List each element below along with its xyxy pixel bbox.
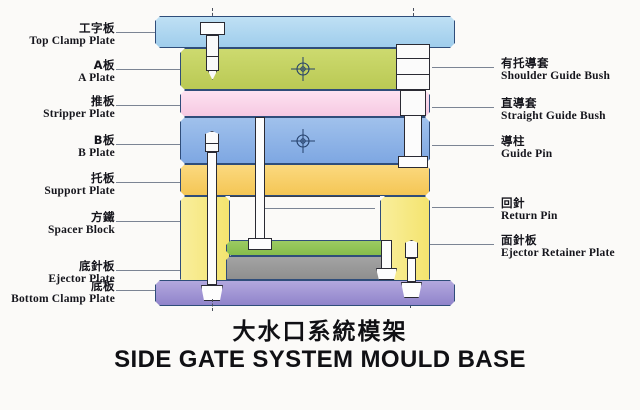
label-stripper-plate-en: Stripper Plate — [43, 108, 115, 121]
label-top-clamp-plate-cn: 工字板 — [29, 22, 115, 35]
part-retainer-screw-head — [376, 268, 397, 280]
label-ejector-retainer-plate: 面針板 Ejector Retainer Plate — [501, 234, 615, 260]
gapline-spacer-gap — [230, 196, 380, 197]
label-shoulder-guide-bush: 有托導套 Shoulder Guide Bush — [501, 57, 610, 83]
leader-guide-pin — [432, 145, 494, 146]
diagram-title: 大水口系統模架 SIDE GATE SYSTEM MOULD BASE — [0, 318, 640, 374]
part-retainer-screw-shank — [381, 240, 392, 270]
label-bottom-clamp-plate-en: Bottom Clamp Plate — [11, 293, 115, 306]
diagram-title-en: SIDE GATE SYSTEM MOULD BASE — [0, 346, 640, 374]
leader-straight-guide-bush — [432, 107, 494, 108]
part-return-pin-left-head — [205, 131, 219, 152]
leader-spacer-gap — [265, 208, 375, 209]
label-stripper-plate-cn: 推板 — [43, 95, 115, 108]
label-a-plate-en: A Plate — [78, 72, 115, 85]
label-bottom-clamp-plate: 底板 Bottom Clamp Plate — [11, 280, 115, 306]
label-bottom-clamp-plate-cn: 底板 — [11, 280, 115, 293]
leader-spacer-block — [116, 221, 182, 222]
leader-b-plate — [116, 144, 186, 145]
leader-shoulder-guide-bush — [432, 67, 494, 68]
label-support-plate: 托板 Support Plate — [44, 172, 115, 198]
part-cap-screw-thread-line — [206, 56, 219, 57]
plate-stripper-plate — [180, 90, 430, 117]
part-cap-screw-top-head — [200, 22, 225, 35]
part-straight-guide-bush — [400, 90, 426, 116]
label-b-plate-en: B Plate — [78, 147, 115, 160]
label-a-plate: A板 A Plate — [78, 59, 115, 85]
label-support-plate-en: Support Plate — [44, 185, 115, 198]
label-return-pin-en: Return Pin — [501, 210, 558, 223]
part-shoulder-bush-line-top — [396, 58, 430, 59]
label-top-clamp-plate-en: Top Clamp Plate — [29, 35, 115, 48]
plate-ejector-plate — [226, 256, 390, 280]
leader-a-plate — [116, 69, 186, 70]
label-shoulder-guide-bush-cn: 有托導套 — [501, 57, 610, 70]
part-guide-pin-foot — [398, 156, 428, 168]
label-shoulder-guide-bush-en: Shoulder Guide Bush — [501, 70, 610, 83]
part-shoulder-guide-bush — [396, 44, 430, 90]
label-return-pin-cn: 回針 — [501, 197, 558, 210]
part-ejector-pin-shaft — [255, 117, 265, 249]
centerline-bottom-cap-screw — [212, 299, 213, 311]
label-straight-guide-bush-cn: 直導套 — [501, 97, 606, 110]
label-guide-pin: 導柱 Guide Pin — [501, 135, 552, 161]
label-return-pin: 回針 Return Pin — [501, 197, 558, 223]
part-return-pin-left-shaft — [207, 152, 217, 285]
mould-base-diagram: 工字板 Top Clamp Plate A板 A Plate 推板 Stripp… — [0, 0, 640, 410]
label-stripper-plate: 推板 Stripper Plate — [43, 95, 115, 121]
label-spacer-block-en: Spacer Block — [48, 224, 115, 237]
part-return-pin-right-foot — [401, 282, 422, 298]
part-return-pin-left-line — [205, 143, 219, 144]
label-spacer-block-cn: 方鐵 — [48, 211, 115, 224]
label-b-plate-cn: B板 — [78, 134, 115, 147]
center-mark-a-plate — [290, 56, 316, 82]
part-return-pin-right-head — [405, 240, 418, 258]
part-shoulder-bush-line-bottom — [396, 74, 430, 75]
label-spacer-block: 方鐵 Spacer Block — [48, 211, 115, 237]
label-ejector-plate-cn: 底針板 — [48, 260, 115, 273]
label-support-plate-cn: 托板 — [44, 172, 115, 185]
label-top-clamp-plate: 工字板 Top Clamp Plate — [29, 22, 115, 48]
leader-return-pin — [432, 207, 494, 208]
label-guide-pin-en: Guide Pin — [501, 148, 552, 161]
part-ejector-pin-head — [248, 238, 272, 250]
plate-spacer-block-left — [180, 196, 230, 284]
label-b-plate: B板 B Plate — [78, 134, 115, 160]
part-cap-screw-top-shank — [206, 35, 219, 71]
label-ejector-retainer-plate-cn: 面針板 — [501, 234, 615, 247]
label-straight-guide-bush-en: Straight Guide Bush — [501, 110, 606, 123]
label-straight-guide-bush: 直導套 Straight Guide Bush — [501, 97, 606, 123]
label-guide-pin-cn: 導柱 — [501, 135, 552, 148]
leader-stripper-plate — [116, 105, 182, 106]
label-ejector-retainer-plate-en: Ejector Retainer Plate — [501, 247, 615, 260]
label-a-plate-cn: A板 — [78, 59, 115, 72]
leader-support-plate — [116, 182, 182, 183]
diagram-title-cn: 大水口系統模架 — [0, 318, 640, 346]
center-mark-b-plate — [290, 128, 316, 154]
part-return-pin-right-shaft — [407, 258, 416, 282]
plate-support-plate — [180, 164, 430, 196]
